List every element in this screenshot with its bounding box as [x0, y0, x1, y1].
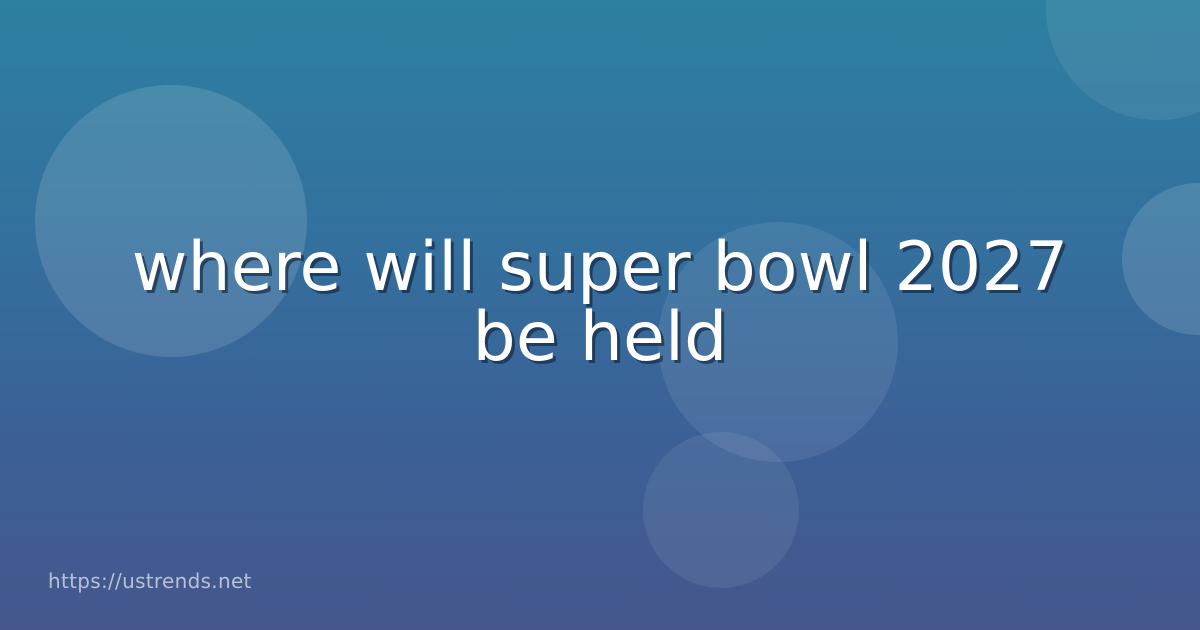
decorative-circle-right-edge [1122, 183, 1200, 335]
social-share-card: where will super bowl 2027 be held https… [0, 0, 1200, 630]
source-url-link[interactable]: https://ustrends.net [48, 569, 252, 593]
page-title: where will super bowl 2027 be held [100, 233, 1100, 373]
decorative-circle-top-right [1046, 0, 1200, 120]
decorative-circle-bottom-middle [643, 432, 799, 588]
